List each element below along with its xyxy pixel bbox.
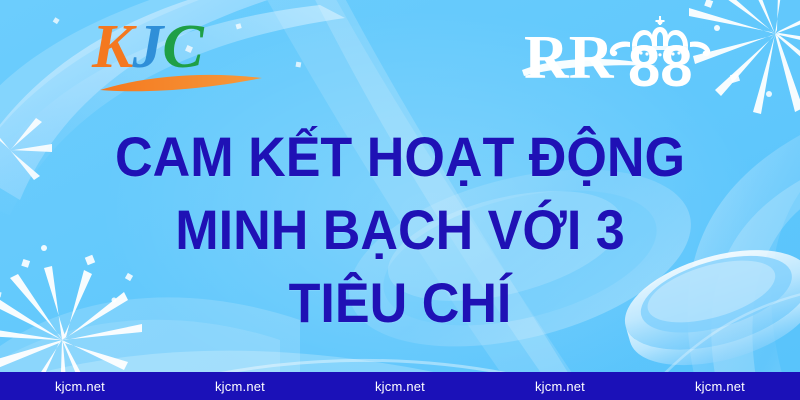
headline-line-2: MINH BẠCH VỚI 3 xyxy=(28,193,772,266)
headline-line-3: TIÊU CHÍ xyxy=(28,266,772,339)
rr88-logo: RR 88 xyxy=(520,12,720,90)
watermark-4: kjcm.net xyxy=(480,379,640,394)
rr88-text-right: 88 xyxy=(628,34,693,90)
footer-watermark-bar: kjcm.net kjcm.net kjcm.net kjcm.net kjcm… xyxy=(0,372,800,400)
headline-line-1: CAM KẾT HOẠT ĐỘNG xyxy=(28,120,772,193)
watermark-1: kjcm.net xyxy=(0,379,160,394)
watermark-2: kjcm.net xyxy=(160,379,320,394)
rr88-logo-mark: RR 88 xyxy=(520,12,720,90)
rr88-text-left: RR xyxy=(524,24,615,90)
kjc-letter-c: C xyxy=(162,13,202,81)
watermark-5: kjcm.net xyxy=(640,379,800,394)
kjc-letter-k: K xyxy=(92,13,132,81)
kjc-letter-j: J xyxy=(132,13,162,81)
kjc-letters: KJC xyxy=(92,16,203,78)
promo-banner: KJC xyxy=(0,0,800,400)
watermark-3: kjcm.net xyxy=(320,379,480,394)
headline: CAM KẾT HOẠT ĐỘNG MINH BẠCH VỚI 3 TIÊU C… xyxy=(0,120,800,339)
kjc-logo: KJC xyxy=(92,16,268,94)
